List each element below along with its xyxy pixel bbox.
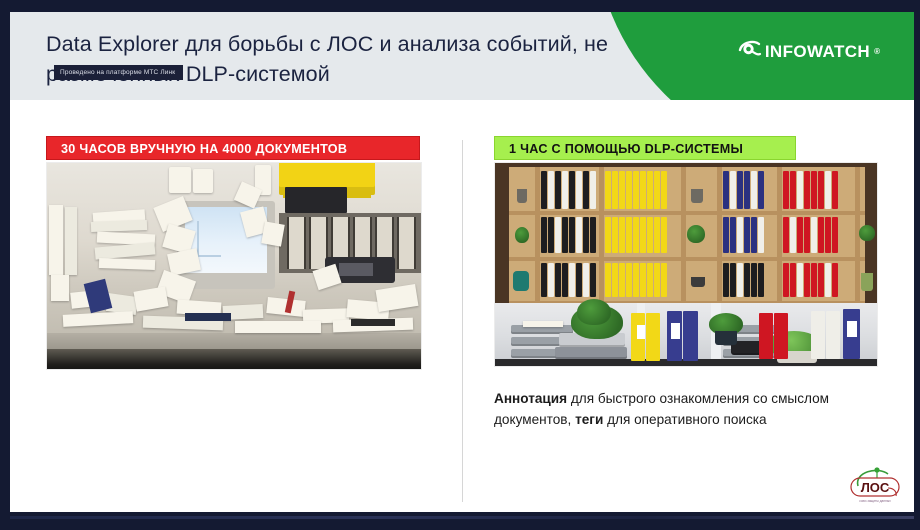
slide-frame-bottom-sheen (10, 516, 914, 519)
slide-frame-right (914, 0, 920, 530)
messy-desk-photo (46, 162, 422, 370)
slide-frame-bottom (0, 512, 920, 530)
page-title: Data Explorer для борьбы с ЛОС и анализа… (46, 29, 636, 89)
brand-registered-mark: ® (874, 48, 880, 56)
svg-text:ЛОС: ЛОС (861, 480, 890, 495)
eye-icon (738, 39, 762, 64)
caption-bold-annotation: Аннотация (494, 391, 567, 406)
caption-end-text: для оперативного поиска (603, 412, 766, 427)
presentation-slide: Data Explorer для борьбы с ЛОС и анализа… (0, 0, 920, 530)
los-logo: ЛОС союз защиты данных (844, 464, 906, 508)
platform-watermark-label: Проведено на платформе МТС Линк (54, 65, 183, 80)
caption-bold-tags: теги (575, 412, 603, 427)
slide-frame-top (0, 0, 920, 12)
infowatch-logo: INFOWATCH ® (738, 39, 880, 64)
brand-name: INFOWATCH (765, 43, 870, 60)
slide-frame-left (0, 0, 10, 530)
left-banner-label: 30 ЧАСОВ ВРУЧНУЮ НА 4000 ДОКУМЕНТОВ (46, 136, 420, 160)
organized-office-photo (494, 162, 878, 367)
slide-body: 30 ЧАСОВ ВРУЧНУЮ НА 4000 ДОКУМЕНТОВ (10, 100, 914, 512)
column-divider (462, 140, 463, 502)
right-banner-label: 1 ЧАС С ПОМОЩЬЮ DLP-СИСТЕМЫ (494, 136, 796, 160)
right-caption: Аннотация для быстрого ознакомления со с… (494, 388, 870, 430)
svg-text:союз защиты данных: союз защиты данных (859, 499, 891, 503)
slide-header: Data Explorer для борьбы с ЛОС и анализа… (10, 12, 914, 100)
